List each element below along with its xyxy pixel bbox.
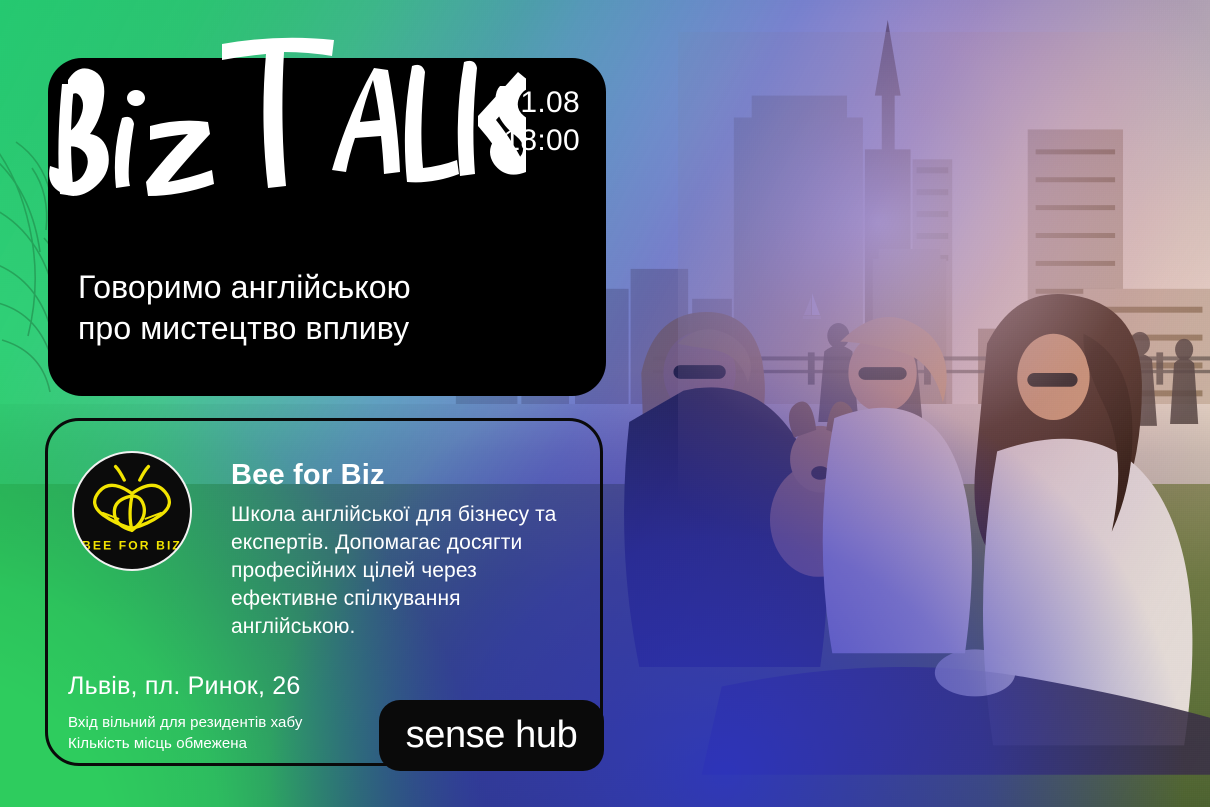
event-date: 21.08 [503,84,580,122]
organizer-info: Bee for Biz Школа англійської для бізнес… [231,459,578,641]
bee-logo-caption: BEE FOR BIZ [82,539,182,553]
headline-line-2: про мистецтво впливу [78,308,576,350]
event-time: 18:00 [503,122,580,160]
venue-address: Львів, пл. Ринок, 26 [68,672,300,701]
sense-hub-label: sense hub [406,714,578,757]
note-line-1: Вхід вільний для резидентів хабу [68,712,302,734]
event-poster: 21.08 18:00 Говоримо англійською про мис… [0,0,1210,807]
bee-icon: BEE FOR BIZ [74,453,190,569]
attendance-notes: Вхід вільний для резидентів хабу Кількіс… [68,712,302,756]
organizer-description: Школа англійської для бізнесу та експерт… [231,501,578,641]
bee-for-biz-logo: BEE FOR BIZ [72,451,192,571]
headline-line-1: Говоримо англійською [78,267,576,309]
event-datetime: 21.08 18:00 [503,84,580,160]
note-line-2: Кількість місць обмежена [68,733,302,755]
sense-hub-logo: sense hub [379,700,604,771]
hero-card: 21.08 18:00 Говоримо англійською про мис… [48,58,606,396]
organizer-name: Bee for Biz [231,459,578,492]
people-group-photo [581,226,1210,775]
page-title: Говоримо англійською про мистецтво вплив… [78,267,576,350]
